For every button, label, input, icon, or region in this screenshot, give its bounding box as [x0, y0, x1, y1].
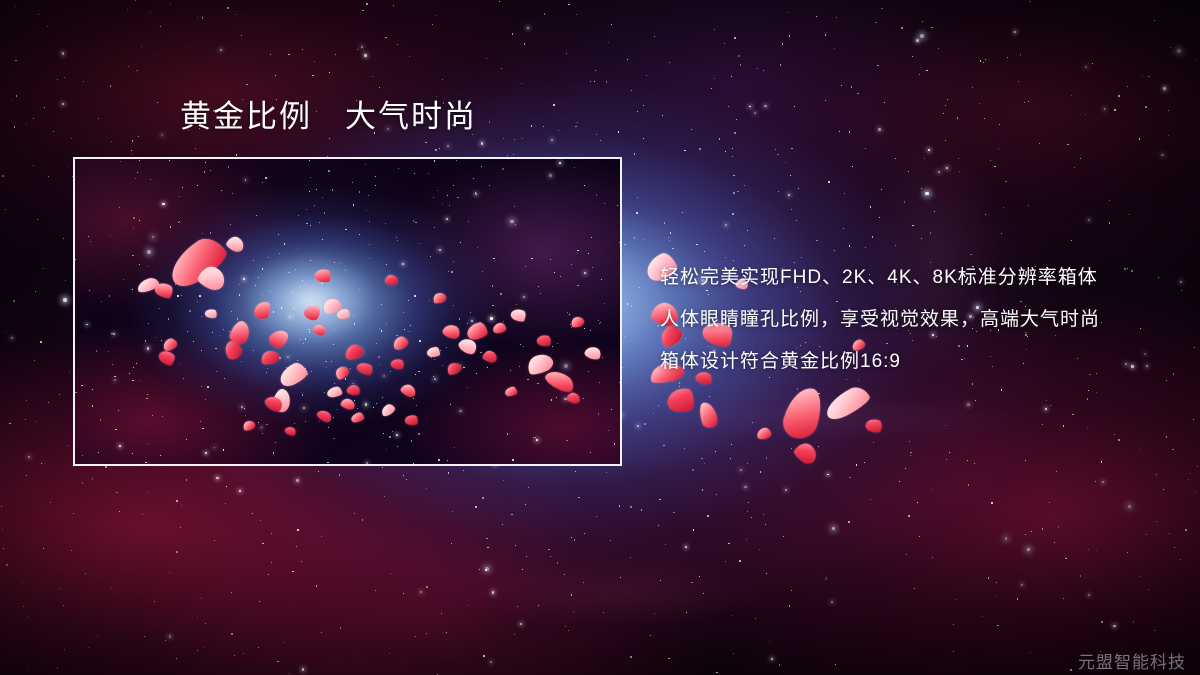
photo-frame[interactable] — [73, 157, 622, 466]
petal — [666, 386, 695, 413]
petal — [792, 439, 820, 466]
petal — [822, 382, 873, 423]
body-copy-line-3: 箱体设计符合黄金比例16:9 — [660, 341, 1100, 383]
petal — [756, 427, 772, 440]
body-copy-line-2: 人体眼睛瞳孔比例，享受视觉效果，高端大气时尚 — [660, 299, 1100, 341]
petal — [696, 400, 719, 430]
photo-frame-core-glow — [75, 159, 620, 464]
body-copy: 轻松完美实现FHD、2K、4K、8K标准分辨率箱体 人体眼睛瞳孔比例，享受视觉效… — [660, 257, 1100, 383]
slide-canvas: 黄金比例 大气时尚 轻松完美实现FHD、2K、4K、8K标准分辨率箱体 人体眼睛… — [0, 0, 1200, 675]
watermark: 元盟智能科技 — [1078, 648, 1186, 673]
body-copy-line-1: 轻松完美实现FHD、2K、4K、8K标准分辨率箱体 — [660, 257, 1100, 299]
petal — [864, 417, 883, 435]
page-title: 黄金比例 大气时尚 — [180, 101, 477, 132]
petal — [779, 383, 826, 442]
